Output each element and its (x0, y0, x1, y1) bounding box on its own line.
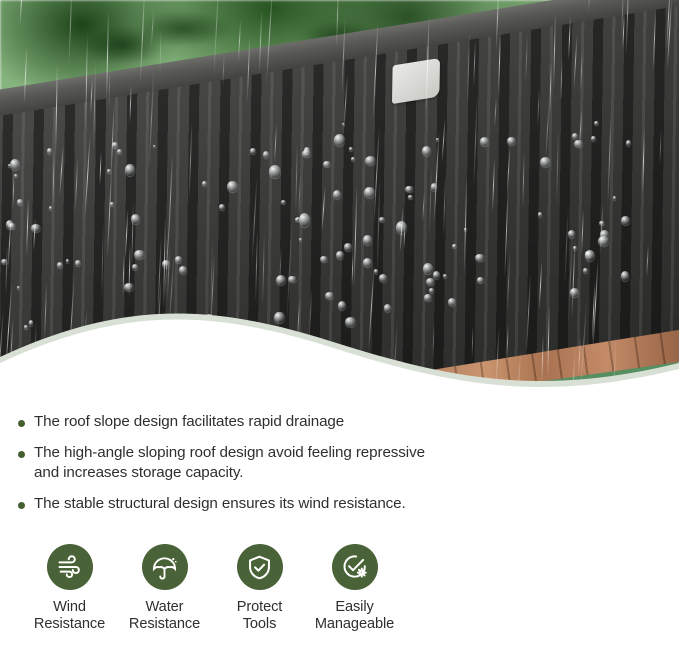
bullet-text: The stable structural design ensures its… (34, 494, 406, 514)
shield-check-icon (246, 554, 273, 581)
bullet-text: The roof slope design facilitates rapid … (34, 412, 344, 432)
wind-icon (56, 553, 84, 581)
benefit-bullet-list: The roof slope design facilitates rapid … (18, 412, 438, 514)
bullet-text: The high-angle sloping roof design avoid… (34, 443, 438, 483)
bullet-dot-icon (18, 451, 25, 458)
feature-water-resistance: Water Resistance (117, 544, 212, 633)
feature-wind-resistance: Wind Resistance (22, 544, 117, 633)
check-gear-icon-badge (332, 544, 378, 590)
wind-icon-badge (47, 544, 93, 590)
feature-icon-row: Wind Resistance Water Resistance (22, 544, 422, 633)
check-gear-icon (341, 553, 369, 581)
umbrella-icon (151, 554, 178, 581)
feature-label: Protect Tools (237, 599, 283, 633)
list-item: The stable structural design ensures its… (18, 494, 438, 514)
content-area: The roof slope design facilitates rapid … (0, 404, 679, 649)
bullet-dot-icon (18, 420, 25, 427)
list-item: The high-angle sloping roof design avoid… (18, 443, 438, 483)
feature-label: Water Resistance (129, 599, 200, 633)
hero-rain-roof-image (0, 0, 679, 410)
feature-label: Wind Resistance (34, 599, 105, 633)
feature-easily-manageable: Easily Manageable (307, 544, 402, 633)
umbrella-icon-badge (142, 544, 188, 590)
list-item: The roof slope design facilitates rapid … (18, 412, 438, 432)
shield-check-icon-badge (237, 544, 283, 590)
feature-protect-tools: Protect Tools (212, 544, 307, 633)
wave-divider (0, 293, 679, 410)
bullet-dot-icon (18, 502, 25, 509)
feature-label: Easily Manageable (315, 599, 394, 633)
product-feature-panel: The roof slope design facilitates rapid … (0, 0, 679, 649)
